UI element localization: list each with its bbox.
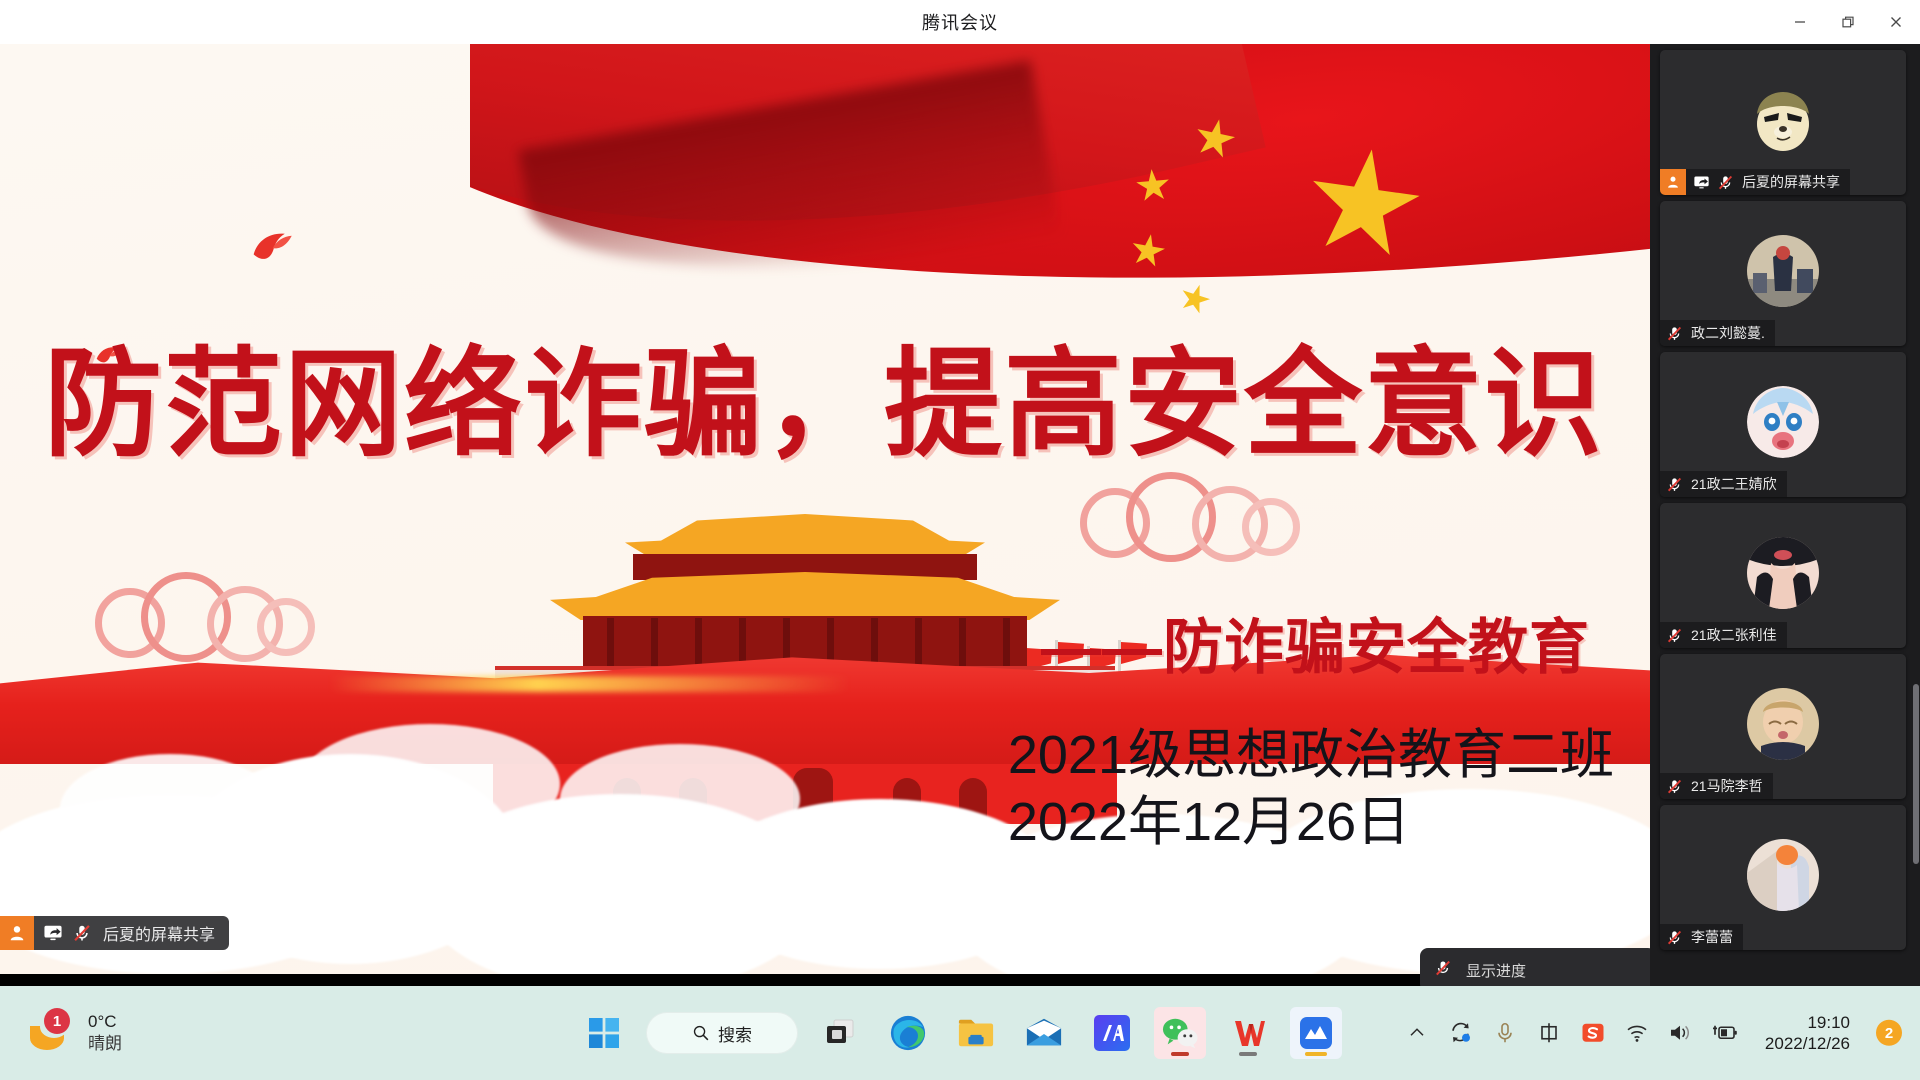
app-active-indicator bbox=[1239, 1052, 1257, 1056]
person-icon bbox=[8, 924, 26, 942]
host-badge bbox=[0, 916, 34, 950]
taskbar-app-mail[interactable] bbox=[1018, 1007, 1070, 1059]
floating-toolbar[interactable]: 显示进度 bbox=[1420, 948, 1650, 986]
taskbar-weather-widget[interactable]: 1 0°C 晴朗 bbox=[26, 1010, 122, 1056]
taskbar-app-wps[interactable] bbox=[1222, 1007, 1274, 1059]
participant-tile[interactable]: 21政二王婧欣 bbox=[1660, 352, 1906, 497]
participant-name: 21政二张利佳 bbox=[1691, 625, 1777, 645]
window-title: 腾讯会议 bbox=[922, 9, 998, 35]
show-hidden-icons-button[interactable] bbox=[1403, 1019, 1431, 1047]
participant-tile[interactable]: 后夏的屏幕共享 bbox=[1660, 50, 1906, 195]
mail-icon bbox=[1025, 1018, 1063, 1048]
avatar bbox=[1747, 386, 1819, 458]
avatar bbox=[1747, 235, 1819, 307]
participant-rail-scrollbar[interactable] bbox=[1913, 684, 1919, 864]
battery-charging-icon bbox=[1712, 1024, 1738, 1042]
app-active-indicator bbox=[1305, 1052, 1327, 1056]
minimize-icon bbox=[1793, 15, 1807, 29]
participant-tile[interactable]: 李蕾蕾 bbox=[1660, 805, 1906, 950]
screen-share-label: 后夏的屏幕共享 bbox=[103, 921, 215, 945]
chinese-flag-graphic bbox=[470, 44, 1650, 374]
slide-class-line: 2021级思想政治教育二班 bbox=[1008, 722, 1614, 789]
avatar bbox=[1747, 84, 1819, 156]
microphone-icon bbox=[1495, 1022, 1515, 1044]
slide-subtitle: ——防诈骗安全教育 bbox=[1041, 599, 1590, 686]
mic-muted-icon bbox=[1666, 325, 1683, 342]
floating-mic-muted-icon[interactable] bbox=[1434, 959, 1452, 982]
microphone-button[interactable] bbox=[1491, 1019, 1519, 1047]
app-active-indicator bbox=[1171, 1052, 1189, 1056]
participant-name: 21马院李哲 bbox=[1691, 776, 1763, 796]
edge-icon bbox=[889, 1014, 927, 1052]
taskbar-center: 搜索 bbox=[578, 1007, 1342, 1059]
participant-namebar: 李蕾蕾 bbox=[1660, 924, 1743, 950]
participant-namebar: 21马院李哲 bbox=[1660, 773, 1773, 799]
mic-muted-icon bbox=[1666, 778, 1683, 795]
wps-office-icon bbox=[1231, 1016, 1265, 1050]
title-bar: 腾讯会议 bbox=[0, 0, 1920, 44]
task-view-icon bbox=[825, 1019, 855, 1047]
wifi-button[interactable] bbox=[1623, 1019, 1651, 1047]
participant-namebar: 政二刘懿蔓. bbox=[1660, 320, 1775, 346]
participant-tile[interactable]: 21政二张利佳 bbox=[1660, 503, 1906, 648]
taskbar-system-tray: 19:10 2022/12/26 2 bbox=[1403, 1012, 1902, 1055]
taskbar-app-file-explorer[interactable] bbox=[950, 1007, 1002, 1059]
taskbar-clock[interactable]: 19:10 2022/12/26 bbox=[1765, 1012, 1850, 1055]
participant-name: 后夏的屏幕共享 bbox=[1742, 172, 1840, 192]
meeting-body: 防范网络诈骗，提高安全意识 ——防诈骗安全教育 2021级思想政治教育二班 20… bbox=[0, 44, 1920, 986]
avatar bbox=[1747, 688, 1819, 760]
minimize-button[interactable] bbox=[1776, 0, 1824, 44]
participant-name: 政二刘懿蔓. bbox=[1691, 323, 1765, 343]
window-controls bbox=[1776, 0, 1920, 44]
battery-button[interactable] bbox=[1711, 1019, 1739, 1047]
windows-start-icon bbox=[589, 1018, 619, 1048]
taskbar-app-ia[interactable] bbox=[1086, 1007, 1138, 1059]
floating-toolbar-label: 显示进度 bbox=[1466, 960, 1526, 981]
close-icon bbox=[1889, 15, 1903, 29]
auspicious-cloud-left bbox=[95, 564, 325, 654]
clock-date: 2022/12/26 bbox=[1765, 1033, 1850, 1054]
ime-chinese-icon bbox=[1538, 1022, 1560, 1044]
volume-icon bbox=[1669, 1023, 1693, 1043]
mic-muted-icon bbox=[1717, 174, 1734, 191]
presentation-slide: 防范网络诈骗，提高安全意识 ——防诈骗安全教育 2021级思想政治教育二班 20… bbox=[0, 44, 1650, 974]
slide-date-line: 2022年12月26日 bbox=[1008, 789, 1614, 856]
sogou-input-button[interactable] bbox=[1579, 1019, 1607, 1047]
participant-namebar: 后夏的屏幕共享 bbox=[1660, 169, 1850, 195]
notification-badge[interactable]: 2 bbox=[1876, 1020, 1902, 1046]
sync-button[interactable] bbox=[1447, 1019, 1475, 1047]
host-badge bbox=[1660, 169, 1686, 195]
mic-muted-icon bbox=[1666, 627, 1683, 644]
restore-button[interactable] bbox=[1824, 0, 1872, 44]
taskbar-app-tencent-meeting[interactable] bbox=[1290, 1007, 1342, 1059]
participant-rail[interactable]: 后夏的屏幕共享 bbox=[1650, 44, 1920, 986]
mic-muted-icon bbox=[72, 923, 92, 943]
start-button[interactable] bbox=[578, 1007, 630, 1059]
file-explorer-icon bbox=[957, 1016, 995, 1050]
screen-share-icon bbox=[43, 924, 63, 942]
participant-namebar: 21政二王婧欣 bbox=[1660, 471, 1787, 497]
avatar bbox=[1747, 537, 1819, 609]
participant-tile[interactable]: 政二刘懿蔓. bbox=[1660, 201, 1906, 346]
task-view-button[interactable] bbox=[814, 1007, 866, 1059]
participant-name: 21政二王婧欣 bbox=[1691, 474, 1777, 494]
weather-condition: 晴朗 bbox=[88, 1033, 122, 1055]
volume-button[interactable] bbox=[1667, 1019, 1695, 1047]
crescent-moon-icon: 1 bbox=[26, 1010, 76, 1056]
wifi-icon bbox=[1626, 1023, 1648, 1043]
search-label: 搜索 bbox=[718, 1021, 752, 1046]
screen-share-icon bbox=[1693, 175, 1710, 190]
person-icon bbox=[1666, 175, 1680, 189]
taskbar-app-wechat[interactable] bbox=[1154, 1007, 1206, 1059]
wechat-icon bbox=[1162, 1017, 1198, 1049]
participant-namebar: 21政二张利佳 bbox=[1660, 622, 1787, 648]
mic-muted-icon bbox=[1666, 476, 1683, 493]
mic-muted-icon bbox=[1666, 929, 1683, 946]
search-box[interactable]: 搜索 bbox=[646, 1012, 798, 1054]
weather-temperature: 0°C bbox=[88, 1011, 122, 1033]
restore-icon bbox=[1841, 15, 1855, 29]
sogou-input-icon bbox=[1581, 1021, 1605, 1045]
ime-language-button[interactable] bbox=[1535, 1019, 1563, 1047]
tencent-meeting-icon bbox=[1298, 1015, 1334, 1051]
search-icon bbox=[692, 1024, 710, 1042]
avatar bbox=[1747, 839, 1819, 911]
slide-title: 防范网络诈骗，提高安全意识 bbox=[44, 344, 1384, 468]
participant-tile[interactable]: 21马院李哲 bbox=[1660, 654, 1906, 799]
windows-taskbar: 1 0°C 晴朗 搜索 bbox=[0, 986, 1920, 1080]
screen-share-badge: 后夏的屏幕共享 bbox=[0, 916, 229, 950]
clock-time: 19:10 bbox=[1765, 1012, 1850, 1033]
taskbar-app-edge[interactable] bbox=[882, 1007, 934, 1059]
flag-star-small-4 bbox=[1176, 280, 1214, 318]
chevron-up-icon bbox=[1408, 1024, 1426, 1042]
weather-badge: 1 bbox=[44, 1008, 70, 1034]
dove-icon-1 bbox=[243, 213, 303, 279]
slide-footer-text: 2021级思想政治教育二班 2022年12月26日 bbox=[1008, 722, 1614, 856]
sync-icon bbox=[1449, 1022, 1473, 1044]
participant-name: 李蕾蕾 bbox=[1691, 927, 1733, 947]
shared-screen-stage[interactable]: 防范网络诈骗，提高安全意识 ——防诈骗安全教育 2021级思想政治教育二班 20… bbox=[0, 44, 1650, 986]
ia-app-icon bbox=[1094, 1015, 1130, 1051]
tencent-meeting-window: 腾讯会议 bbox=[0, 0, 1920, 1080]
close-button[interactable] bbox=[1872, 0, 1920, 44]
